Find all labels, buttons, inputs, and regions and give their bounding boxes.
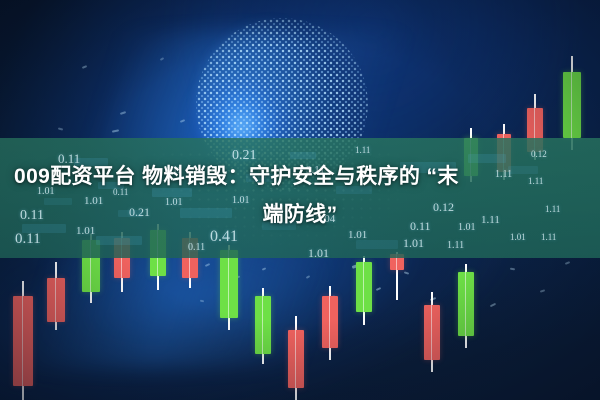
headline-line-2: 端防线” <box>14 196 586 234</box>
banner-image: 0.110.211.111.113.111.010.111.010.211.01… <box>0 0 600 400</box>
overlay-number: 0.11 <box>188 242 205 253</box>
data-chip <box>96 236 142 245</box>
headline-line-1: 009配资平台 物料销毁：守护安全与秩序的 “末 <box>14 165 459 188</box>
overlay-number: 1.11 <box>447 240 464 251</box>
data-chip <box>356 240 398 249</box>
overlay-number: 1.01 <box>403 236 424 251</box>
overlay-number: 1.11 <box>355 145 370 155</box>
overlay-number: 1.01 <box>308 246 329 258</box>
page-title: 009配资平台 物料销毁：守护安全与秩序的 “末 端防线” <box>0 158 600 234</box>
